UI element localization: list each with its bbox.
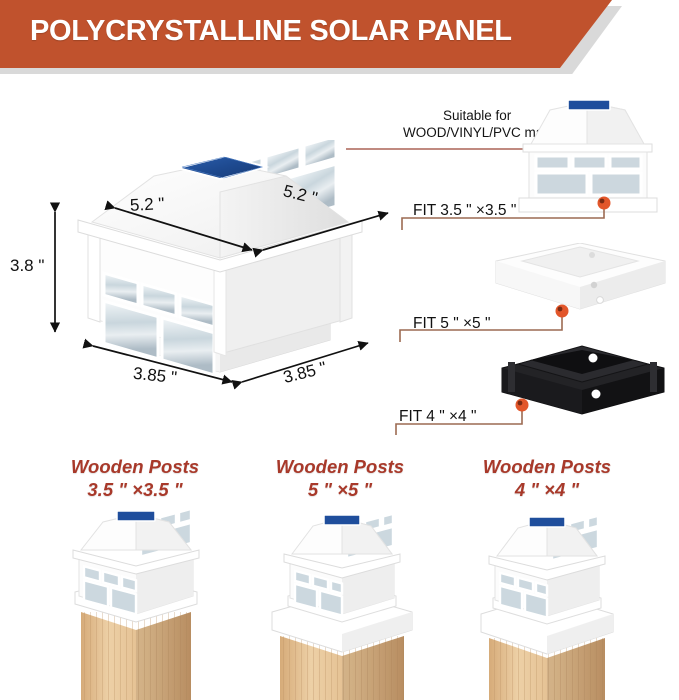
infographic-canvas: POLYCRYSTALLINE SOLAR PANEL xyxy=(0,0,679,700)
header-banner: POLYCRYSTALLINE SOLAR PANEL xyxy=(0,0,679,78)
fit-label-4: FIT 4 " ×4 " xyxy=(399,408,477,426)
dimension-arrows-main xyxy=(20,150,410,400)
example-illustration-2 xyxy=(258,508,426,700)
page-title: POLYCRYSTALLINE SOLAR PANEL xyxy=(30,15,512,48)
example-illustration-1 xyxy=(53,508,218,700)
example-title-3: Wooden Posts xyxy=(483,456,611,477)
dimension-label-height: 3.8 " xyxy=(10,256,44,276)
example-title-2: Wooden Posts xyxy=(276,456,404,477)
example-size-2: 5 " ×5 " xyxy=(308,479,372,500)
example-title-1: Wooden Posts xyxy=(71,456,199,477)
suitable-for-underline xyxy=(346,148,531,150)
example-size-3: 4 " ×4 " xyxy=(515,479,579,500)
example-heading-3: Wooden Posts 4 " ×4 " xyxy=(452,455,642,501)
fit-label-5: FIT 5 " ×5 " xyxy=(413,315,491,333)
example-heading-2: Wooden Posts 5 " ×5 " xyxy=(245,455,435,501)
example-size-1: 3.5 " ×3.5 " xyxy=(87,479,182,500)
example-illustration-3 xyxy=(463,508,631,700)
dimension-label-top-left: 5.2 " xyxy=(130,194,165,216)
suitable-for-line1: Suitable for xyxy=(443,107,511,124)
fit-label-3-5: FIT 3.5 " ×3.5 " xyxy=(413,202,516,220)
example-heading-1: Wooden Posts 3.5 " ×3.5 " xyxy=(40,455,230,501)
